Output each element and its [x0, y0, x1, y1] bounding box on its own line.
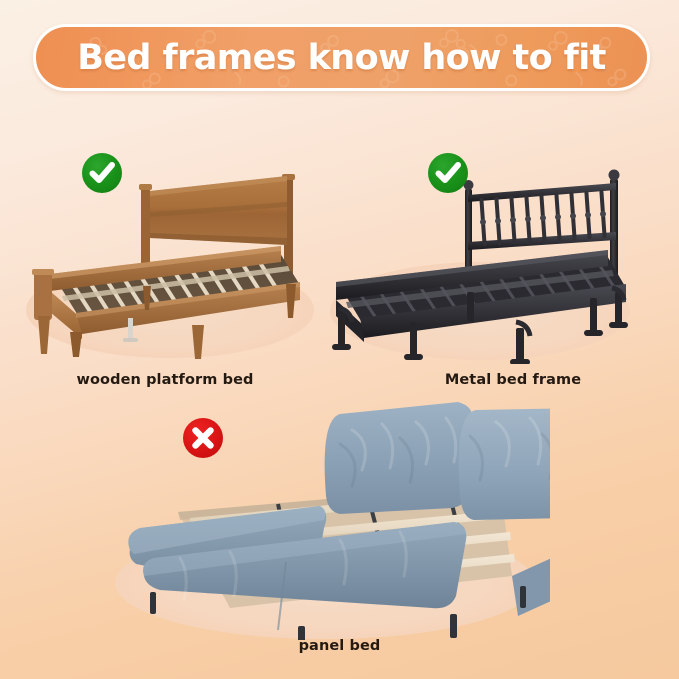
caption-wooden-platform-bed: wooden platform bed: [0, 372, 330, 388]
wooden-platform-bed-illustration: [10, 150, 322, 360]
infographic-canvas: Bed frames know how to fit: [0, 0, 679, 679]
check-icon: [428, 153, 468, 193]
page-title: Bed frames know how to fit: [36, 27, 647, 88]
check-icon: [82, 153, 122, 193]
panel-bed-illustration: [110, 400, 550, 640]
caption-metal-bed-frame: Metal bed frame: [348, 372, 678, 388]
badge-check-wooden: [82, 153, 122, 193]
header-banner: Bed frames know how to fit: [33, 24, 650, 91]
caption-panel-bed: panel bed: [0, 638, 679, 654]
badge-check-metal: [428, 153, 468, 193]
cross-icon: [183, 418, 223, 458]
metal-bed-frame-illustration: [320, 150, 650, 364]
badge-cross-panel: [183, 418, 223, 458]
